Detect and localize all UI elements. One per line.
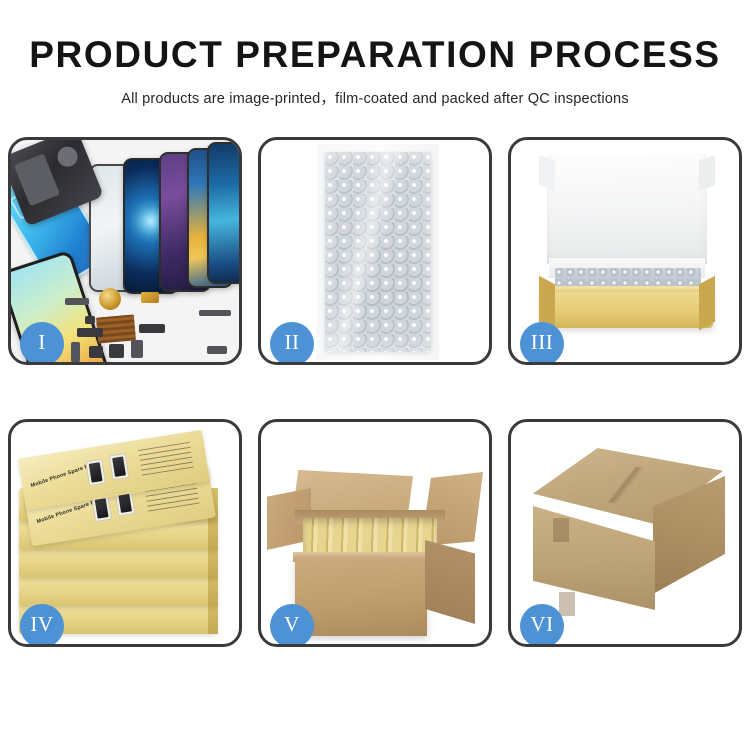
inner-box-body-image (541, 292, 713, 328)
speaker-part-image (109, 344, 124, 358)
step-badge-6: VI (520, 604, 564, 647)
process-step-card-4[interactable]: Mobile Phone Spare Parts Mobile Phone Sp… (8, 419, 242, 647)
screw-set-part-image (85, 316, 95, 324)
step-badge-2: II (270, 322, 314, 365)
process-step-grid: I II III Mobile Phone Spare Pa (8, 137, 742, 677)
process-step-card-5[interactable]: V (258, 419, 492, 647)
vibration-motor-part-image (99, 288, 121, 310)
button-part-image (89, 346, 103, 358)
process-step-card-1[interactable]: I (8, 137, 242, 365)
step-badge-5: V (270, 604, 314, 647)
carton-side-panel-image (425, 540, 475, 624)
retail-box-spec-lines (138, 442, 193, 476)
connector-part-image (77, 328, 103, 337)
sealed-carton-handle-cutout (553, 518, 569, 542)
step-badge-4: IV (20, 604, 64, 647)
bracket-part-image (141, 292, 159, 303)
process-step-card-2[interactable]: II (258, 137, 492, 365)
tweezers-tool-image (199, 310, 231, 316)
process-step-card-3[interactable]: III (508, 137, 742, 365)
retail-box-screen-thumb (85, 459, 106, 486)
step-badge-3: III (520, 322, 564, 365)
retail-box-screen-thumb (109, 453, 130, 480)
bubble-wrap-highlight (325, 152, 431, 352)
process-step-card-6[interactable]: VI (508, 419, 742, 647)
header: PRODUCT PREPARATION PROCESS All products… (0, 0, 750, 108)
carton-front-panel-image (295, 558, 427, 636)
page-title: PRODUCT PREPARATION PROCESS (0, 36, 750, 73)
screwdriver-tool-image (207, 346, 227, 354)
page-subtitle: All products are image-printed，film-coat… (0, 87, 750, 108)
sealed-carton-front-image (533, 506, 655, 610)
smartphone-image-teal (207, 142, 242, 284)
camera-part-image (131, 340, 143, 358)
antenna-part-image (139, 324, 165, 333)
step-badge-1: I (20, 322, 64, 365)
flex-cable-part-image (65, 298, 89, 305)
sealed-carton-handle-cutout (559, 592, 575, 616)
sim-tray-part-image (71, 342, 80, 362)
inner-box-lid-image (547, 154, 707, 264)
